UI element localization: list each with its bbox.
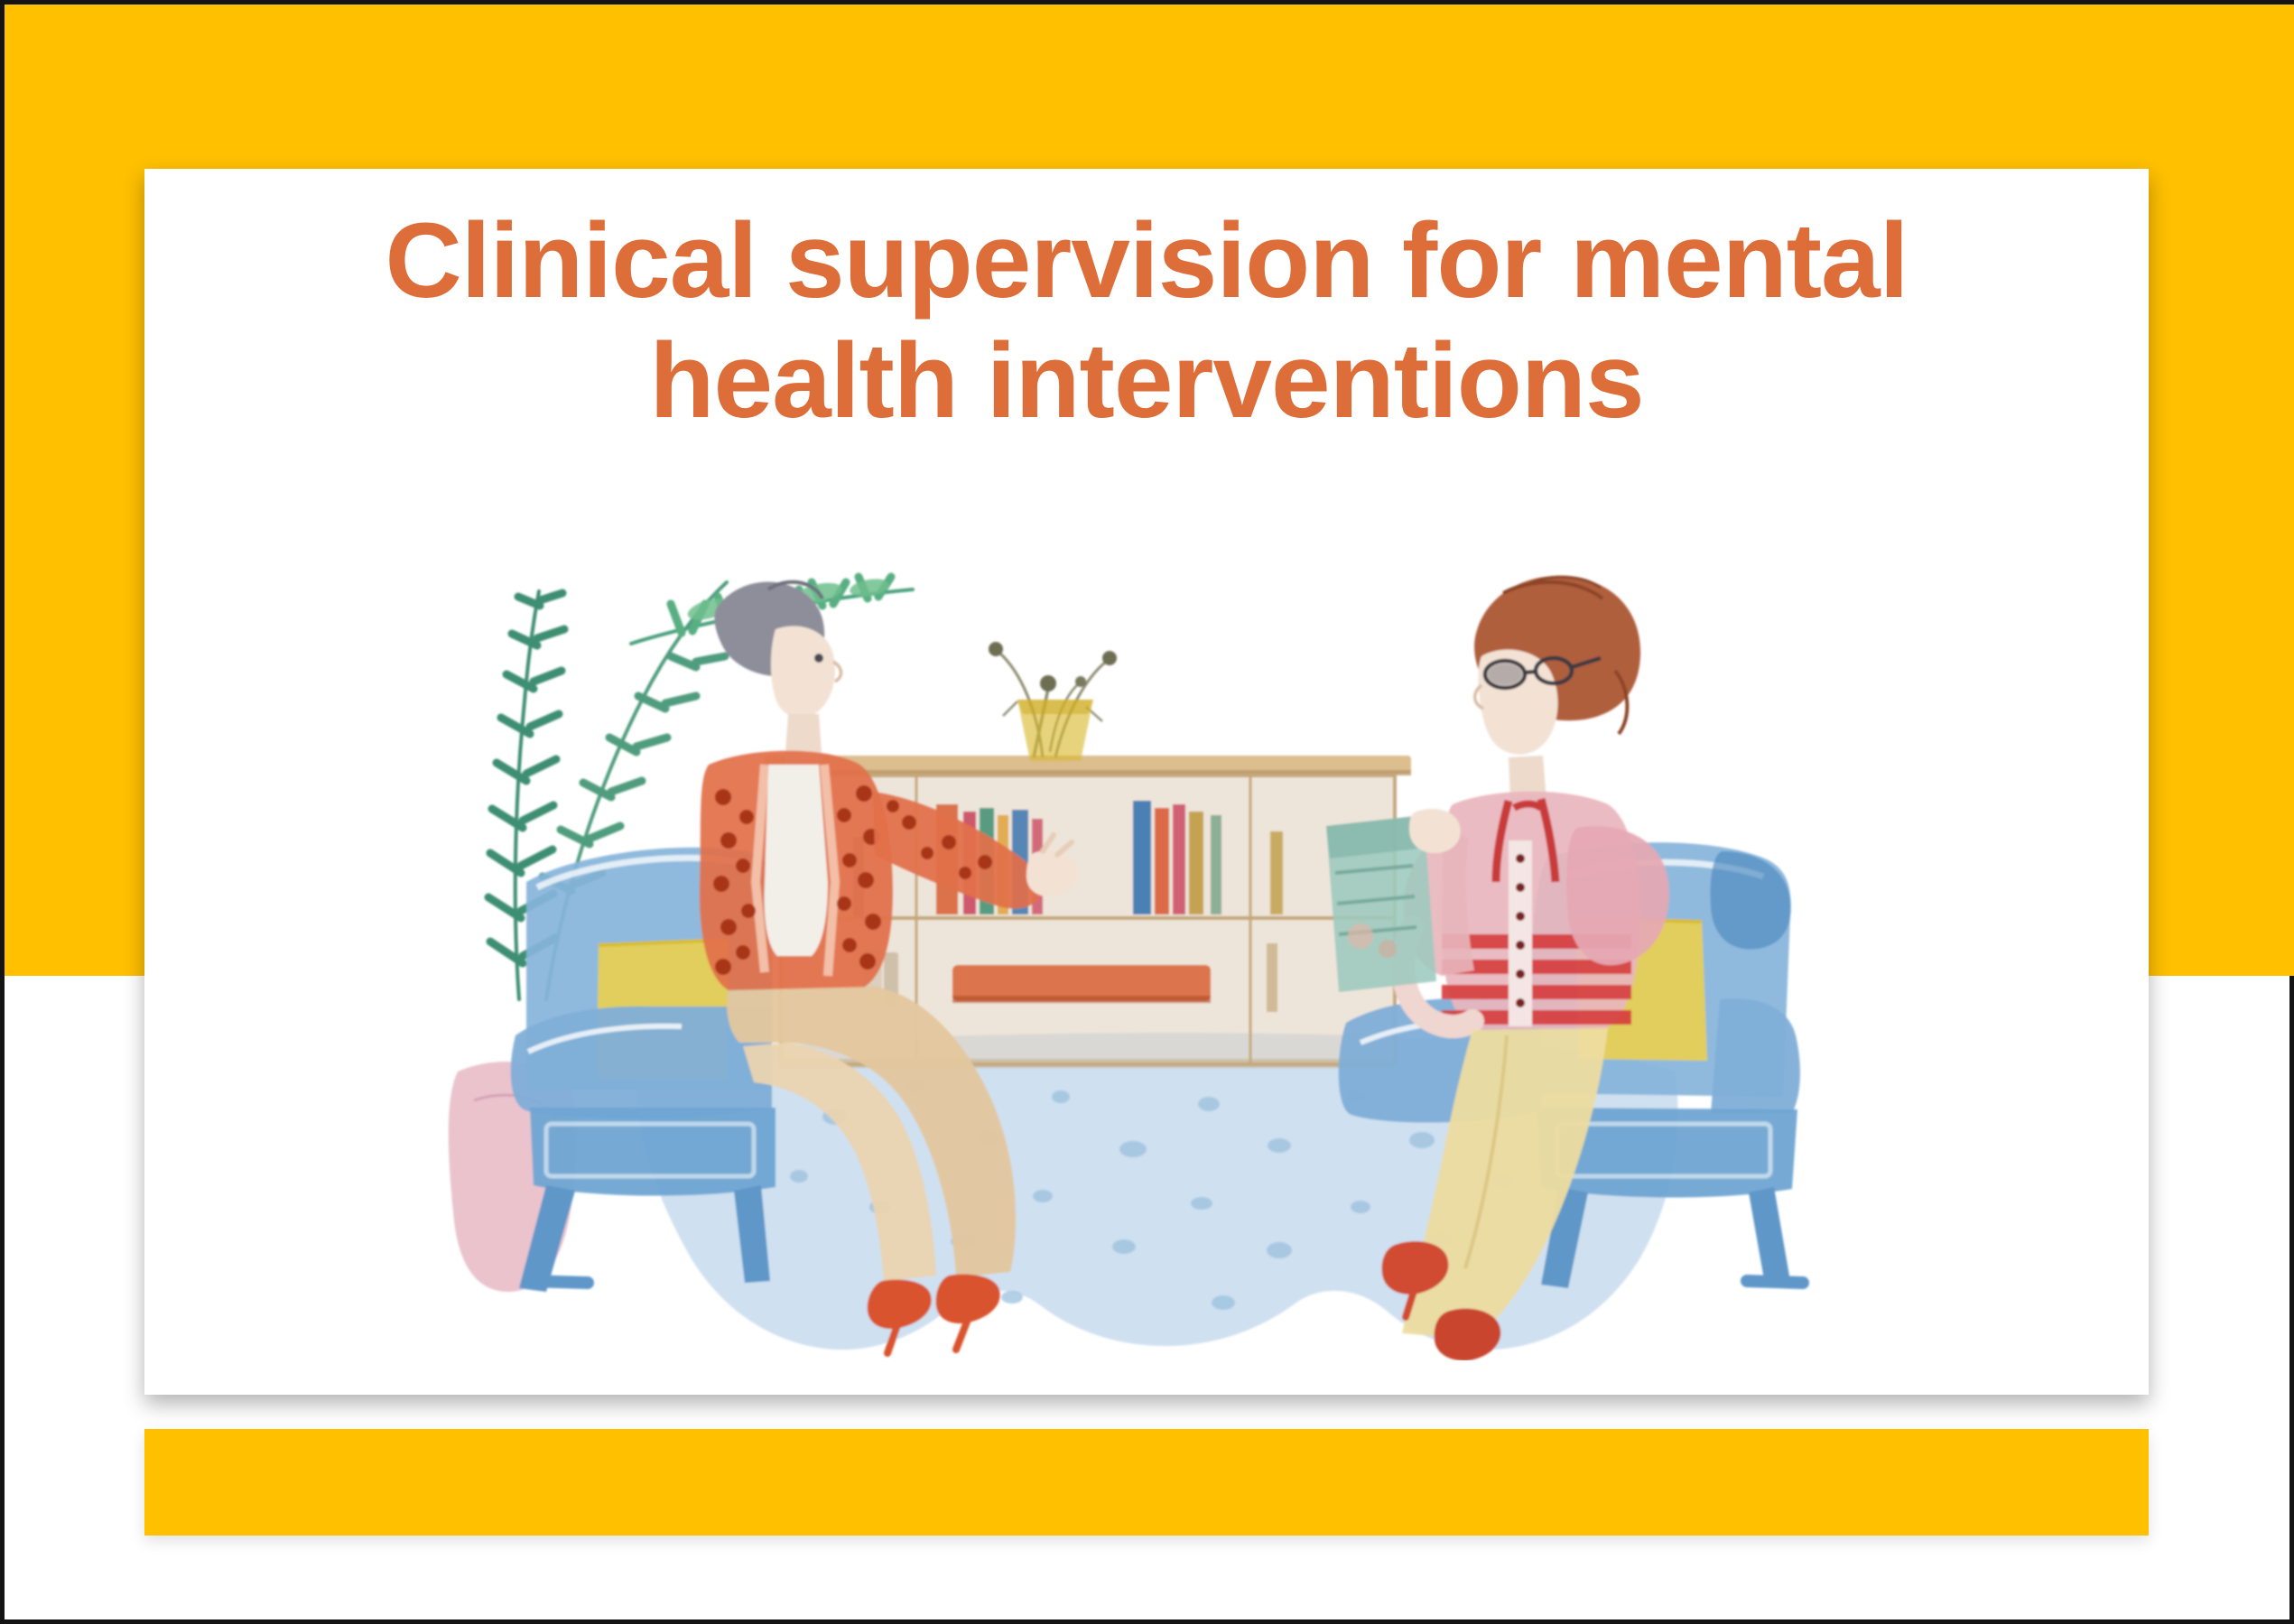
small-potted-flower: [989, 642, 1117, 761]
slide-canvas: Clinical supervision for mental health i…: [0, 0, 2294, 1624]
white-content-card: Clinical supervision for mental health i…: [144, 169, 2149, 1395]
gold-footer-bar: [144, 1429, 2149, 1536]
page-title: Clinical supervision for mental health i…: [289, 201, 2004, 442]
illustration-two-women-conversation: [411, 494, 1909, 1360]
gold-right-band: [2146, 5, 2294, 976]
title-line-1: Clinical supervision for mental: [385, 201, 1909, 320]
title-line-2: health interventions: [649, 321, 1643, 441]
